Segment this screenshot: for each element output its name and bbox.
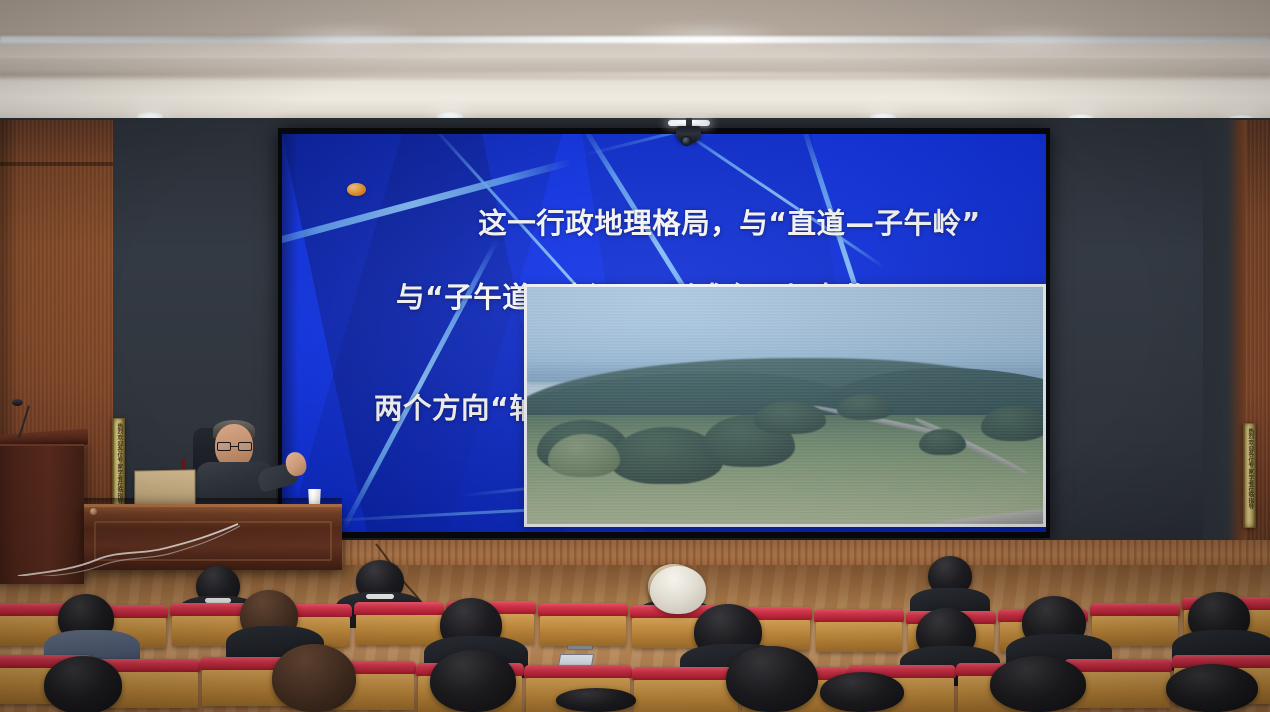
bullet-marker-icon — [347, 183, 366, 196]
auditorium-seat — [816, 618, 902, 652]
slide-line-1: 这一行政地理格局，与“直道—子午岭” — [478, 207, 980, 240]
projection-screen-frame: 这一行政地理格局，与“直道—子午岭” 与“子午道—直河”，形成东西与南北 两个方… — [278, 128, 1050, 538]
projection-screen[interactable]: 这一行政地理格局，与“直道—子午岭” 与“子午道—直河”，形成东西与南北 两个方… — [282, 134, 1046, 532]
slide-landscape-photo — [524, 284, 1046, 527]
lecture-hall-photo: 热烈欢迎各位专家学者莅临指导 热烈欢迎各位专家学者莅临指导 这一行政地理格局， — [0, 0, 1270, 712]
welcome-banner-left: 热烈欢迎各位专家学者莅临指导 — [112, 418, 125, 510]
audience-head — [44, 656, 122, 712]
audience-head — [820, 672, 904, 712]
audience-head — [726, 646, 818, 712]
audience-head — [430, 650, 516, 712]
auditorium-seat — [540, 612, 626, 646]
audience-head — [1166, 664, 1258, 712]
welcome-banner-left-text: 热烈欢迎各位专家学者莅临指导 — [116, 423, 122, 504]
audience-head — [990, 656, 1086, 712]
auditorium-seat — [634, 676, 738, 712]
table-knob — [90, 508, 97, 515]
cable — [0, 520, 360, 576]
audience-head — [556, 688, 636, 712]
microphone-icon — [12, 399, 23, 406]
audience-head — [272, 644, 356, 712]
ceiling-cove-seam — [0, 72, 1270, 77]
welcome-banner-right-text: 热烈欢迎各位专家学者莅临指导 — [1247, 428, 1253, 509]
camera-lens-icon — [681, 136, 692, 146]
glasses-icon — [217, 442, 252, 451]
ceiling — [0, 0, 1270, 124]
wall-corner-right — [1203, 120, 1247, 570]
auditorium-seat — [356, 611, 442, 645]
photo-shrub — [919, 429, 965, 455]
slide-content: 这一行政地理格局，与“直道—子午岭” 与“子午道—直河”，形成东西与南北 两个方… — [282, 134, 1046, 532]
welcome-banner-right: 热烈欢迎各位专家学者莅临指导 — [1243, 423, 1256, 528]
audience-head-knit-hat — [650, 566, 706, 614]
photo-shrub — [981, 406, 1046, 442]
